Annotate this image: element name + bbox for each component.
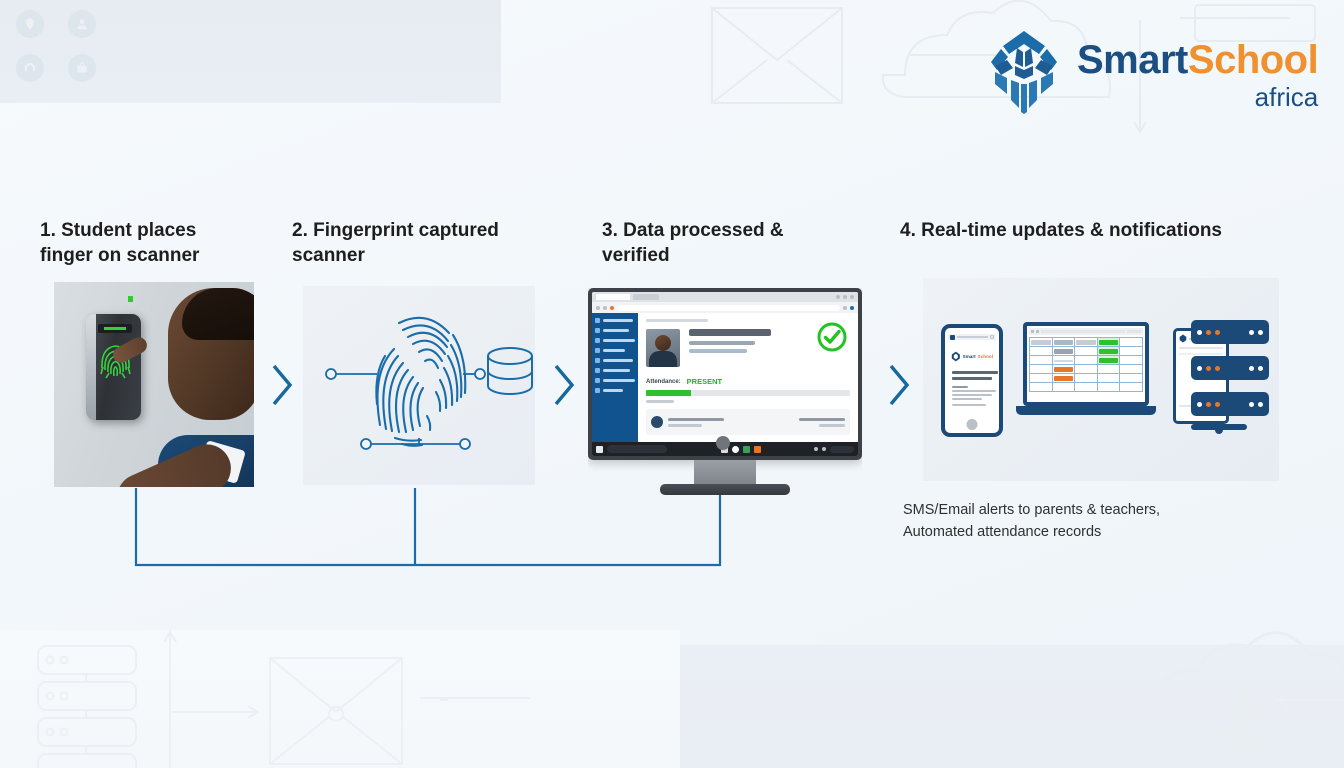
bookmark-star-icon[interactable] bbox=[843, 306, 847, 310]
attendance-row: Attendance: PRESENT bbox=[646, 377, 850, 386]
record-time-block bbox=[799, 418, 845, 427]
record-name-block bbox=[668, 418, 794, 427]
window-minimize-icon[interactable] bbox=[836, 295, 840, 299]
flow-step-4: 4. Real-time updates & notifications bbox=[900, 218, 1222, 243]
record-name bbox=[668, 418, 724, 421]
sidebar-item[interactable] bbox=[595, 328, 635, 333]
student-class-line bbox=[689, 341, 755, 345]
flow-arrow-3-icon bbox=[885, 360, 913, 410]
table-row bbox=[1030, 383, 1143, 392]
attendance-progress-bar bbox=[646, 390, 850, 396]
scanner-edge-trim bbox=[86, 314, 96, 420]
brand-name-part2: School bbox=[1188, 38, 1318, 82]
attendance-record-card[interactable] bbox=[646, 409, 850, 435]
browser-tab-active[interactable] bbox=[596, 294, 630, 300]
taskbar-sheets-icon[interactable] bbox=[743, 446, 750, 453]
phone-app-title bbox=[957, 336, 988, 338]
sidebar-item-label bbox=[603, 349, 625, 352]
phone-menu-icon[interactable] bbox=[990, 335, 994, 339]
brand-name-part1: Smart bbox=[1077, 38, 1188, 82]
browser-address-bar[interactable] bbox=[592, 302, 858, 313]
phone-screen: SmartSchool bbox=[948, 334, 996, 421]
start-menu-icon[interactable] bbox=[596, 446, 603, 453]
table-row bbox=[1030, 338, 1143, 347]
sidebar-item[interactable] bbox=[595, 368, 635, 373]
laptop-device bbox=[1023, 322, 1149, 422]
table-row bbox=[1030, 374, 1143, 383]
student-hair bbox=[182, 288, 254, 340]
laptop-base bbox=[1016, 406, 1156, 415]
table-row bbox=[1030, 356, 1143, 365]
ceiling-led-dot bbox=[128, 296, 133, 302]
taskbar-app-icon[interactable] bbox=[754, 446, 761, 453]
phone-logo-cube-icon bbox=[951, 350, 961, 363]
brand-tagline: africa bbox=[1077, 84, 1318, 110]
server-unit bbox=[1191, 392, 1269, 416]
record-subtitle bbox=[668, 424, 702, 427]
step-2-visual-fingerprint bbox=[303, 286, 535, 485]
window-maximize-icon[interactable] bbox=[843, 295, 847, 299]
url-input[interactable] bbox=[617, 305, 840, 311]
server-unit bbox=[1191, 320, 1269, 344]
breadcrumb bbox=[646, 319, 708, 322]
profile-avatar-icon[interactable] bbox=[850, 306, 854, 310]
site-favicon-icon bbox=[610, 306, 614, 310]
sidebar-item[interactable] bbox=[595, 378, 635, 383]
attendance-status-badge: PRESENT bbox=[687, 377, 722, 386]
record-time-sub bbox=[819, 424, 845, 427]
attendance-table bbox=[1029, 337, 1143, 392]
sidebar-item-label bbox=[603, 319, 633, 322]
step-4-caption: SMS/Email alerts to parents & teachers, … bbox=[903, 499, 1160, 543]
browser-tab-strip[interactable] bbox=[592, 292, 858, 302]
sidebar-icon bbox=[595, 338, 600, 343]
database-cylinder-icon bbox=[488, 348, 532, 394]
sidebar-icon bbox=[595, 318, 600, 323]
sidebar-icon bbox=[595, 358, 600, 363]
monitor-power-button[interactable] bbox=[716, 436, 730, 450]
progress-caption bbox=[646, 400, 674, 403]
monitor-stand-neck bbox=[694, 460, 756, 486]
dashboard-body: Attendance: PRESENT bbox=[592, 313, 858, 442]
attendance-label: Attendance: bbox=[646, 379, 681, 385]
monitor-screen: Attendance: PRESENT bbox=[592, 292, 858, 456]
flow-step-1: 1. Student places finger on scanner bbox=[40, 218, 199, 268]
step-1-visual-photo bbox=[54, 282, 254, 487]
server-foot bbox=[1215, 426, 1223, 434]
sidebar-item[interactable] bbox=[595, 348, 635, 353]
brand-wordmark: SmartSchool bbox=[1077, 40, 1318, 80]
phone-brand-logo: SmartSchool bbox=[951, 349, 993, 363]
phone-logo-text-2: School bbox=[978, 354, 993, 359]
monitor-stand-base bbox=[660, 484, 790, 495]
flow-arrow-2-icon bbox=[550, 360, 578, 410]
flow-arrow-1-icon bbox=[268, 360, 296, 410]
taskbar-browser-icon[interactable] bbox=[732, 446, 739, 453]
taskbar-search-input[interactable] bbox=[607, 445, 667, 453]
back-arrow-icon[interactable] bbox=[596, 306, 600, 310]
sidebar-item-label bbox=[603, 329, 629, 332]
sidebar-item[interactable] bbox=[595, 338, 635, 343]
sidebar-item-label bbox=[603, 389, 623, 392]
dashboard-main: Attendance: PRESENT bbox=[638, 313, 858, 442]
taskbar-clock bbox=[830, 446, 854, 453]
sidebar-item[interactable] bbox=[595, 388, 635, 393]
scanner-status-led bbox=[98, 324, 132, 333]
sidebar-icon bbox=[595, 378, 600, 383]
laptop-toolbar[interactable] bbox=[1029, 328, 1143, 335]
sidebar-item-label bbox=[603, 379, 635, 382]
forward-arrow-icon[interactable] bbox=[603, 306, 607, 310]
desktop-monitor: Attendance: PRESENT bbox=[588, 288, 862, 460]
student-name bbox=[689, 329, 771, 336]
sidebar-icon bbox=[595, 348, 600, 353]
brand-logo: SmartSchool africa bbox=[985, 28, 1318, 114]
sidebar-icon bbox=[595, 388, 600, 393]
table-row bbox=[1030, 365, 1143, 374]
step-1-title: 1. Student places finger on scanner bbox=[40, 218, 199, 268]
server-rack-device bbox=[1173, 320, 1269, 432]
step-4-title: 4. Real-time updates & notifications bbox=[900, 218, 1222, 243]
student-registration-line bbox=[689, 349, 747, 353]
smartschool-cube-logo-icon bbox=[985, 28, 1063, 114]
tray-network-icon[interactable] bbox=[814, 447, 818, 451]
window-close-icon[interactable] bbox=[850, 295, 854, 299]
step-4-visual-devices: SmartSchool bbox=[923, 278, 1279, 481]
sidebar-item[interactable] bbox=[595, 358, 635, 363]
dashboard-sidebar[interactable] bbox=[592, 313, 638, 442]
record-avatar-icon bbox=[651, 416, 663, 428]
sidebar-item-label bbox=[603, 359, 633, 362]
browser-tab-inactive[interactable] bbox=[633, 294, 659, 300]
phone-home-button[interactable] bbox=[967, 419, 978, 430]
sidebar-item-label bbox=[603, 339, 635, 342]
sidebar-icon bbox=[595, 328, 600, 333]
phone-notification-text bbox=[952, 371, 992, 406]
phone-logo-text-1: Smart bbox=[963, 354, 976, 359]
step-3-visual-monitor: Attendance: PRESENT bbox=[588, 288, 862, 496]
step-3-title: 3. Data processed & verified bbox=[602, 218, 784, 268]
flow-step-3: 3. Data processed & verified bbox=[602, 218, 784, 268]
tray-volume-icon[interactable] bbox=[822, 447, 826, 451]
student-avatar bbox=[646, 329, 680, 367]
step-2-title: 2. Fingerprint captured scanner bbox=[292, 218, 499, 268]
laptop-screen bbox=[1023, 322, 1149, 406]
phone-speaker bbox=[961, 324, 983, 328]
fingerprint-network-illustration bbox=[303, 286, 535, 485]
sidebar-item-label bbox=[603, 369, 630, 372]
phone-app-icon bbox=[950, 335, 955, 340]
verified-check-circle-icon bbox=[816, 321, 848, 353]
mobile-phone-device: SmartSchool bbox=[941, 324, 1003, 437]
sidebar-icon bbox=[595, 368, 600, 373]
server-logo-icon bbox=[1179, 334, 1187, 343]
student-head bbox=[168, 288, 254, 420]
sidebar-item[interactable] bbox=[595, 318, 635, 323]
table-row bbox=[1030, 347, 1143, 356]
server-unit bbox=[1191, 356, 1269, 380]
record-timestamp bbox=[799, 418, 845, 421]
flow-step-2: 2. Fingerprint captured scanner bbox=[292, 218, 499, 268]
phone-app-bar bbox=[948, 334, 996, 340]
